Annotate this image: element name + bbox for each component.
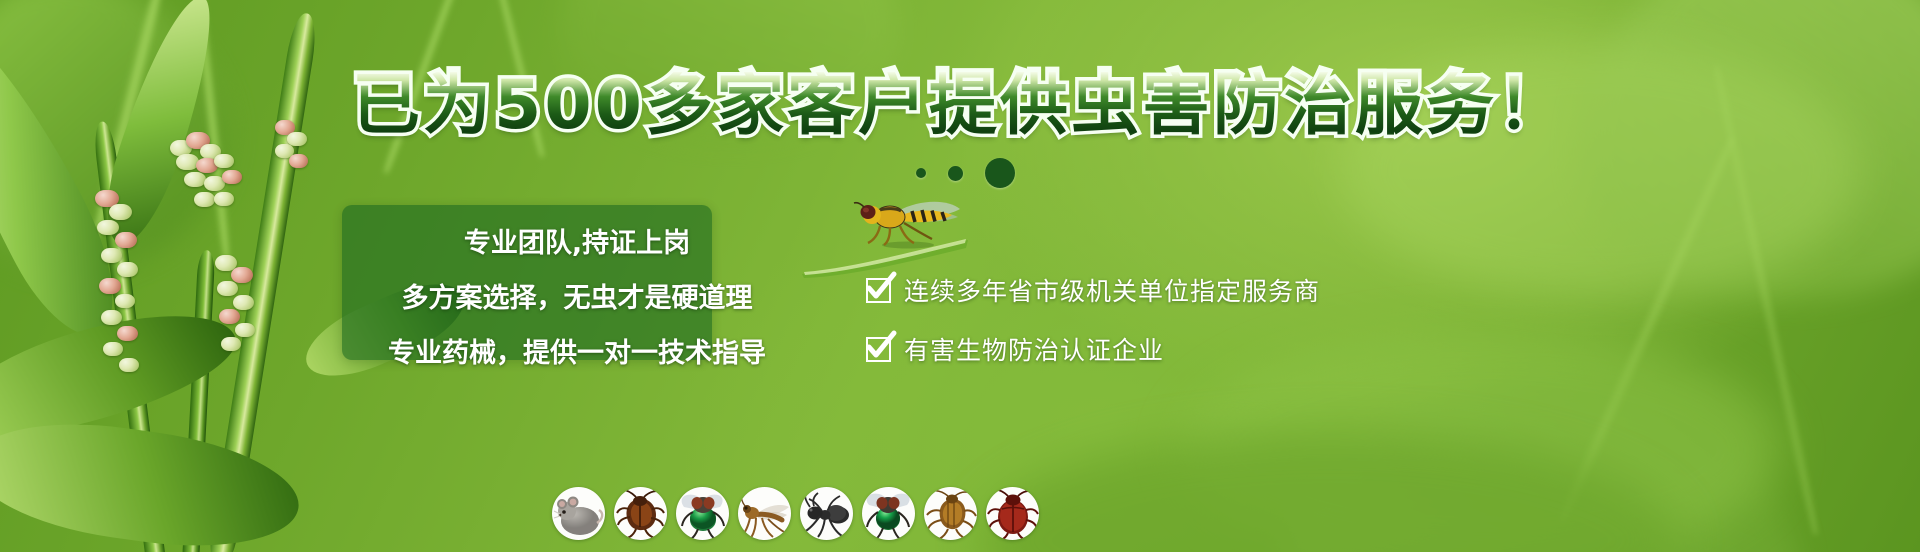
plant-leaf — [0, 408, 306, 552]
bedbug-icon[interactable] — [986, 487, 1039, 540]
dot-medium-icon — [948, 166, 963, 181]
flea-icon[interactable] — [924, 487, 977, 540]
feature-bullets: 连续多年省市级机关单位指定服务商 有害生物防治认证企业 — [866, 272, 1320, 367]
decorative-dots — [0, 158, 1920, 188]
dot-large-icon — [985, 158, 1015, 188]
slogan-line-1: 专业团队,持证上岗 — [464, 221, 690, 260]
page-title: 已为500多家客户提供虫害防治服务！ 已为500多家客户提供虫害防治服务！ — [0, 72, 1920, 140]
cockroach-icon[interactable] — [614, 487, 667, 540]
pest-icon-row — [552, 487, 1039, 540]
slogan-line-3: 专业药械，提供一对一技术指导 — [388, 331, 766, 370]
ant-icon[interactable] — [800, 487, 853, 540]
bullet-text: 有害生物防治认证企业 — [904, 331, 1164, 367]
blowfly-icon[interactable] — [676, 487, 729, 540]
dot-small-icon — [916, 168, 926, 178]
slogan-line-2: 多方案选择，无虫才是硬道理 — [402, 276, 753, 315]
pest-control-hero-banner: 已为500多家客户提供虫害防治服务！ 已为500多家客户提供虫害防治服务！ 专业… — [0, 0, 1920, 552]
mouse-icon[interactable] — [552, 487, 605, 540]
bullet-text: 连续多年省市级机关单位指定服务商 — [904, 272, 1320, 308]
list-item: 连续多年省市级机关单位指定服务商 — [866, 272, 1320, 308]
list-item: 有害生物防治认证企业 — [866, 331, 1320, 367]
green-fly-icon[interactable] — [862, 487, 915, 540]
checkbox-checked-icon — [866, 337, 891, 362]
hoverfly-icon — [846, 197, 966, 249]
headline-text: 已为500多家客户提供虫害防治服务！ — [352, 72, 1568, 140]
checkbox-checked-icon — [866, 278, 891, 303]
slogan-list: 专业团队,持证上岗 多方案选择，无虫才是硬道理 专业药械，提供一对一技术指导 — [342, 205, 812, 380]
crane-fly-icon[interactable] — [738, 487, 791, 540]
